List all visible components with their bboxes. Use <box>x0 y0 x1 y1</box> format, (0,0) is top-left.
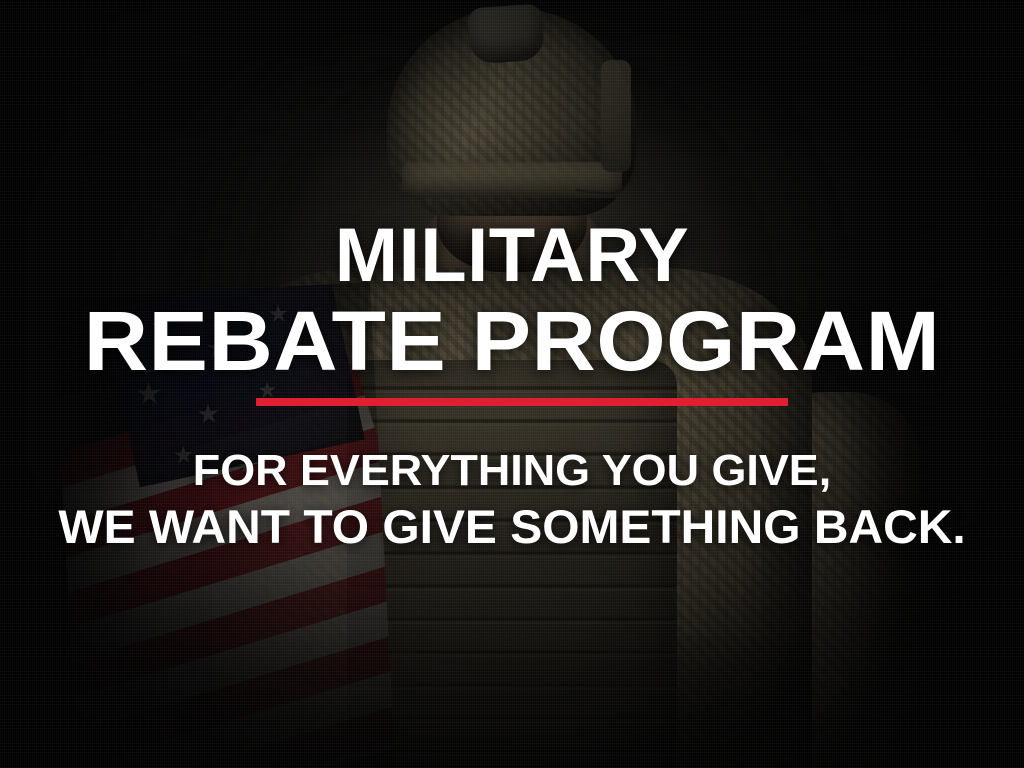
nvg-mount-icon <box>467 3 545 64</box>
helmet-cable-icon <box>575 97 644 198</box>
molle-webbing-icon <box>347 360 677 768</box>
military-rebate-program-banner: ★ ★ ★ ★ ★ ★ ★ ★ MILITARY REBATE PROGRAM … <box>0 0 1024 768</box>
plate-carrier-vest <box>347 360 677 768</box>
flag-shading <box>52 282 395 768</box>
background-photo: ★ ★ ★ ★ ★ ★ ★ ★ <box>0 0 1024 768</box>
american-flag: ★ ★ ★ ★ ★ ★ ★ ★ <box>52 282 395 768</box>
